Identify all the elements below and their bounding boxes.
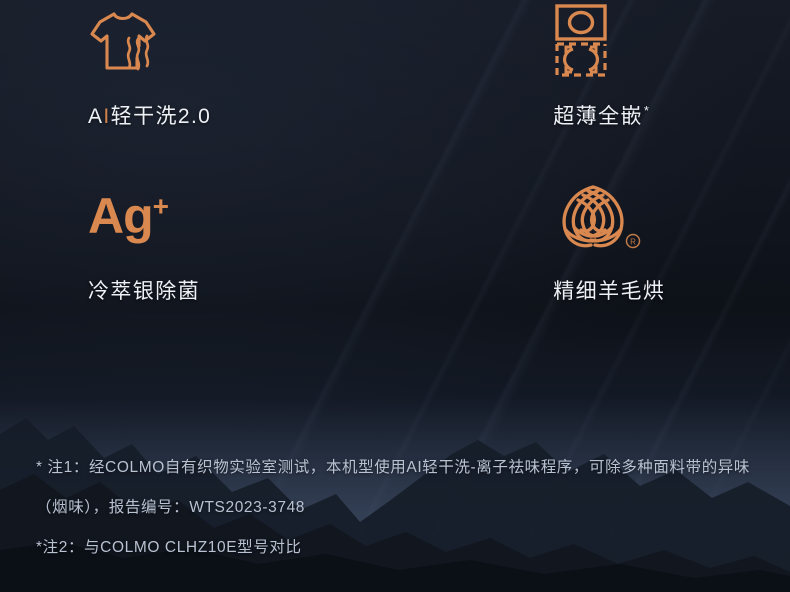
label-suffix: 轻干洗2.0 [111,105,212,128]
feature-label: 精细羊毛烘 [553,275,665,305]
feature-ai-light-dry-clean[interactable]: AI轻干洗2.0 [0,0,211,175]
feature-grid: AI轻干洗2.0 超薄全嵌* [0,0,790,335]
label-prefix: A [88,105,103,128]
footnote-2: *注2：与COLMO CLHZ10E型号对比 [36,528,766,568]
feature-automotive-design-aesthetics[interactable]: 汽车设计美学 [665,0,790,175]
feature-ultra-thin-built-in[interactable]: 超薄全嵌* [211,0,665,175]
woolmark-icon: R [553,175,645,257]
ag-symbol: Ag [88,188,153,244]
label-text: 超薄全嵌 [553,105,643,128]
feature-label: 冷萃银除菌 [88,275,200,305]
feature-label: AI轻干洗2.0 [88,100,211,130]
feature-dual-smart-dryness-detection[interactable]: MEMS 双重智能判干 [665,175,790,335]
built-in-washer-icon [553,0,609,82]
feature-label: 超薄全嵌* [553,100,650,130]
footnotes: * 注1：经COLMO自有织物实验室测试，本机型使用AI轻干洗-离子祛味程序，可… [36,448,766,568]
label-superscript: * [644,103,650,118]
product-feature-panel: AI轻干洗2.0 超薄全嵌* [0,0,790,592]
label-text: 精细羊毛烘 [553,280,665,303]
ag-plus-icon: Ag+ [88,175,168,257]
feature-cold-extract-silver-sterilization[interactable]: Ag+ 冷萃银除菌 [0,175,211,335]
footnote-1: * 注1：经COLMO自有织物实验室测试，本机型使用AI轻干洗-离子祛味程序，可… [36,448,766,528]
label-accent-letter: I [103,105,110,128]
feature-fine-wool-drying[interactable]: R 精细羊毛烘 [211,175,665,335]
label-text: 冷萃银除菌 [88,280,200,303]
svg-text:R: R [630,238,636,247]
plus-superscript: + [153,190,168,221]
tshirt-odor-icon [88,0,162,82]
